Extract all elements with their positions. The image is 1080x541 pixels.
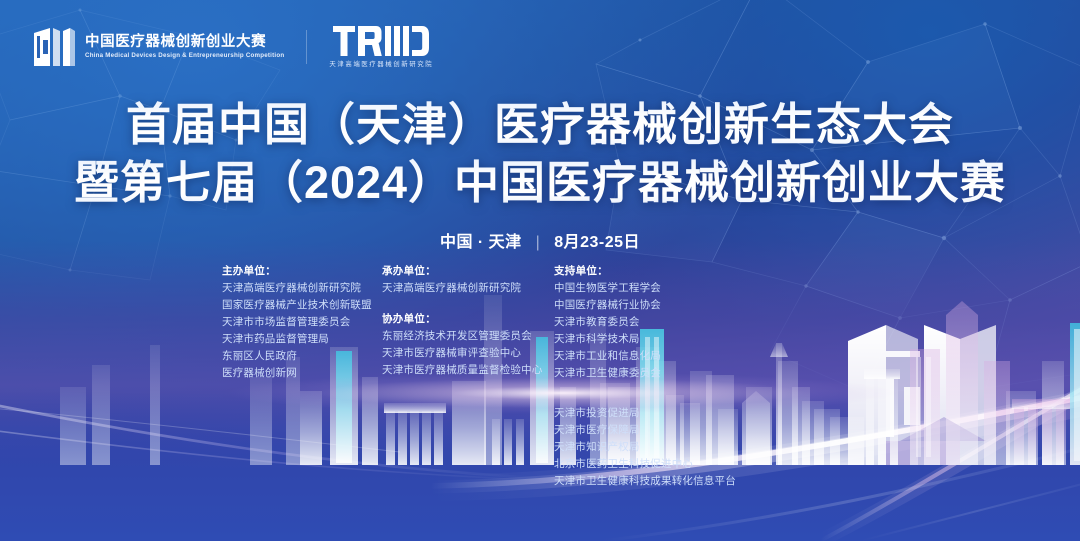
supporter-subcolumn-2: 天津市投资促进局 天津市医疗保障局 天津市知识产权局 北京市医药卫生科技促进中心… <box>554 388 736 490</box>
event-location: 中国 · 天津 <box>440 234 522 251</box>
coorganizer-item: 天津市医疗器械审评查验中心 <box>382 345 554 362</box>
supporter-item: 天津市工业和信息化局 <box>554 348 674 365</box>
supporter-item: 天津市投资促进局 <box>554 405 736 422</box>
competition-logo[interactable]: 中国医疗器械创新创业大赛 China Medical Devices Desig… <box>32 27 284 67</box>
column-gap <box>382 297 554 311</box>
meta-separator: | <box>536 234 541 252</box>
competition-name-cn: 中国医疗器械创新创业大赛 <box>85 35 284 50</box>
supporter-item: 天津市科学技术局 <box>554 331 674 348</box>
host-item: 天津市药品监督管理局 <box>222 331 382 348</box>
open-door-book-mark-icon <box>32 27 76 67</box>
host-item: 国家医疗器械产业技术创新联盟 <box>222 297 382 314</box>
header-logos: 中国医疗器械创新创业大赛 China Medical Devices Desig… <box>32 26 433 68</box>
event-date: 8月23-25日 <box>554 234 640 251</box>
undertaker-column: 承办单位： 天津高端医疗器械创新研究院 协办单位： 东丽经济技术开发区管理委员会… <box>382 263 554 490</box>
supporter-heading: 支持单位： <box>554 263 674 280</box>
supporter-item: 天津市卫生健康科技成果转化信息平台 <box>554 473 736 490</box>
poster-title: 首届中国（天津）医疗器械创新生态大会 暨第七届（2024）中国医疗器械创新创业大… <box>0 96 1080 211</box>
undertaker-item: 天津高端医疗器械创新研究院 <box>382 280 554 297</box>
organizer-block: 主办单位： 天津高端医疗器械创新研究院 国家医疗器械产业技术创新联盟 天津市市场… <box>222 263 882 490</box>
conference-poster: 中国医疗器械创新创业大赛 China Medical Devices Desig… <box>0 0 1080 541</box>
triid-wordmark-icon <box>333 26 429 56</box>
title-line-1: 首届中国（天津）医疗器械创新生态大会 <box>0 96 1080 154</box>
title-line-2: 暨第七届（2024）中国医疗器械创新创业大赛 <box>0 154 1080 212</box>
host-item: 天津市市场监督管理委员会 <box>222 314 382 331</box>
undertaker-heading: 承办单位： <box>382 263 554 280</box>
supporter-column: 支持单位： 中国生物医学工程学会 中国医疗器械行业协会 天津市教育委员会 天津市… <box>554 263 736 490</box>
host-item: 医疗器械创新网 <box>222 365 382 382</box>
coorganizer-item: 东丽经济技术开发区管理委员会 <box>382 328 554 345</box>
supporter-item: 中国医疗器械行业协会 <box>554 297 674 314</box>
institute-name-cn: 天津高端医疗器械创新研究院 <box>329 59 433 68</box>
supporter-subcolumn-1: 支持单位： 中国生物医学工程学会 中国医疗器械行业协会 天津市教育委员会 天津市… <box>554 263 674 382</box>
host-item: 天津高端医疗器械创新研究院 <box>222 280 382 297</box>
supporter-item: 天津市卫生健康委员会 <box>554 365 674 382</box>
host-heading: 主办单位： <box>222 263 382 280</box>
host-column: 主办单位： 天津高端医疗器械创新研究院 国家医疗器械产业技术创新联盟 天津市市场… <box>222 263 382 490</box>
supporter-item: 中国生物医学工程学会 <box>554 280 674 297</box>
coorganizer-heading: 协办单位： <box>382 311 554 328</box>
logo-divider <box>306 30 307 64</box>
coorganizer-item: 天津市医疗器械质量监督检验中心 <box>382 362 554 379</box>
competition-name-en: China Medical Devices Design & Entrepren… <box>85 53 284 60</box>
supporter-item: 天津市医疗保障局 <box>554 422 736 439</box>
subcolumn-spacer <box>554 388 736 405</box>
supporter-item: 天津市知识产权局 <box>554 439 736 456</box>
supporter-item: 天津市教育委员会 <box>554 314 674 331</box>
event-meta: 中国 · 天津 | 8月23-25日 <box>0 228 1080 252</box>
institute-logo[interactable]: 天津高端医疗器械创新研究院 <box>329 26 433 68</box>
host-item: 东丽区人民政府 <box>222 348 382 365</box>
supporter-item: 北京市医药卫生科技促进中心 <box>554 456 736 473</box>
